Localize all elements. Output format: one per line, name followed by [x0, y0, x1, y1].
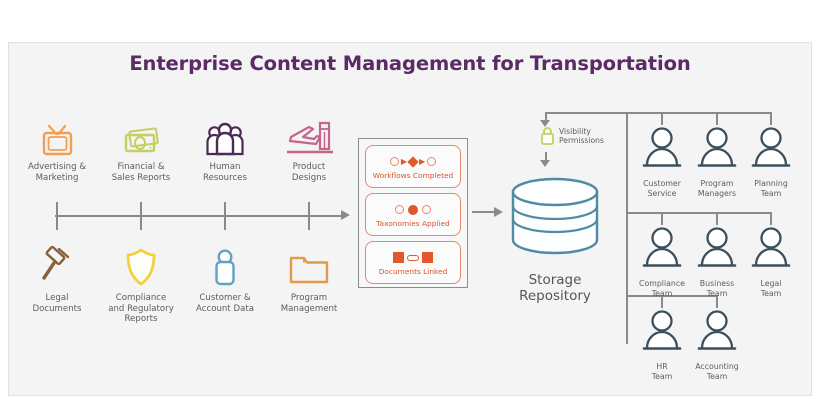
flow-axis-arrowhead — [341, 210, 350, 220]
source-label: Advertising & Marketing — [14, 162, 100, 183]
person-icon — [636, 224, 688, 272]
axis-tick-2 — [140, 202, 142, 230]
source-human-resources[interactable]: Human Resources — [182, 112, 268, 183]
person-icon — [636, 307, 688, 355]
axis-tick-3 — [224, 202, 226, 230]
folder-icon — [266, 243, 352, 289]
process-card-label: Taxonomies Applied — [376, 219, 449, 228]
process-to-storage-arrow — [472, 211, 494, 213]
process-card-workflows[interactable]: ▶ ▶ Workflows Completed — [365, 145, 461, 188]
person-icon — [691, 307, 743, 355]
lock-icon — [540, 126, 555, 146]
org-tree-trunk — [626, 112, 628, 344]
source-label: Compliance and Regulatory Reports — [98, 293, 184, 325]
shield-icon — [98, 243, 184, 289]
source-product-designs[interactable]: Product Designs — [266, 112, 352, 183]
process-card-label: Workflows Completed — [373, 171, 453, 180]
source-label: Legal Documents — [14, 293, 100, 314]
team-label: Accounting Team — [684, 362, 750, 381]
person-icon — [745, 224, 797, 272]
diagram-canvas: Enterprise Content Management for Transp… — [0, 0, 820, 405]
people-group-icon — [182, 112, 268, 158]
person-data-icon — [182, 243, 268, 289]
source-label: Customer & Account Data — [182, 293, 268, 314]
process-card-documents-linked[interactable]: Documents Linked — [365, 241, 461, 284]
process-card-label: Documents Linked — [379, 267, 448, 276]
team-label: Legal Team — [738, 279, 804, 298]
process-card-taxonomies[interactable]: Taxonomies Applied — [365, 193, 461, 236]
process-box: ▶ ▶ Workflows Completed Taxonomies Appli… — [358, 138, 468, 288]
source-financial-sales-reports[interactable]: Financial & Sales Reports — [98, 112, 184, 183]
linked-documents-icon — [393, 249, 433, 266]
source-legal-documents[interactable]: Legal Documents — [14, 243, 100, 314]
person-icon — [745, 124, 797, 172]
permissions-arrow-down-2 — [540, 160, 550, 167]
source-label: Human Resources — [182, 162, 268, 183]
database-cylinder-icon — [503, 176, 607, 258]
gavel-icon — [14, 243, 100, 289]
source-program-management[interactable]: Program Management — [266, 243, 352, 314]
permissions-label: Visibility Permissions — [559, 127, 604, 145]
team-label: Planning Team — [738, 179, 804, 198]
storage-repository[interactable]: Storage Repository — [503, 176, 607, 304]
storage-label: Storage Repository — [503, 272, 607, 304]
source-advertising-marketing[interactable]: Advertising & Marketing — [14, 112, 100, 183]
axis-tick-4 — [308, 202, 310, 230]
source-compliance-regulatory-reports[interactable]: Compliance and Regulatory Reports — [98, 243, 184, 325]
workflow-nodes-icon: ▶ ▶ — [390, 153, 436, 170]
banknotes-icon — [98, 112, 184, 158]
source-label: Product Designs — [266, 162, 352, 183]
flow-axis-line — [55, 215, 343, 217]
person-icon — [691, 224, 743, 272]
page-title: Enterprise Content Management for Transp… — [0, 52, 820, 75]
permissions-top-branch — [545, 112, 635, 114]
airplane-tower-icon — [266, 112, 352, 158]
taxonomy-dots-icon — [395, 201, 431, 218]
source-label: Program Management — [266, 293, 352, 314]
team-accounting[interactable]: Accounting Team — [684, 307, 750, 381]
source-customer-account-data[interactable]: Customer & Account Data — [182, 243, 268, 314]
org-row1-bar — [626, 112, 771, 114]
axis-tick-1 — [56, 202, 58, 230]
person-icon — [636, 124, 688, 172]
source-label: Financial & Sales Reports — [98, 162, 184, 183]
org-row2-bar — [626, 212, 771, 214]
television-icon — [14, 112, 100, 158]
team-legal[interactable]: Legal Team — [738, 224, 804, 298]
visibility-permissions[interactable]: Visibility Permissions — [540, 126, 604, 146]
person-icon — [691, 124, 743, 172]
team-planning[interactable]: Planning Team — [738, 124, 804, 198]
